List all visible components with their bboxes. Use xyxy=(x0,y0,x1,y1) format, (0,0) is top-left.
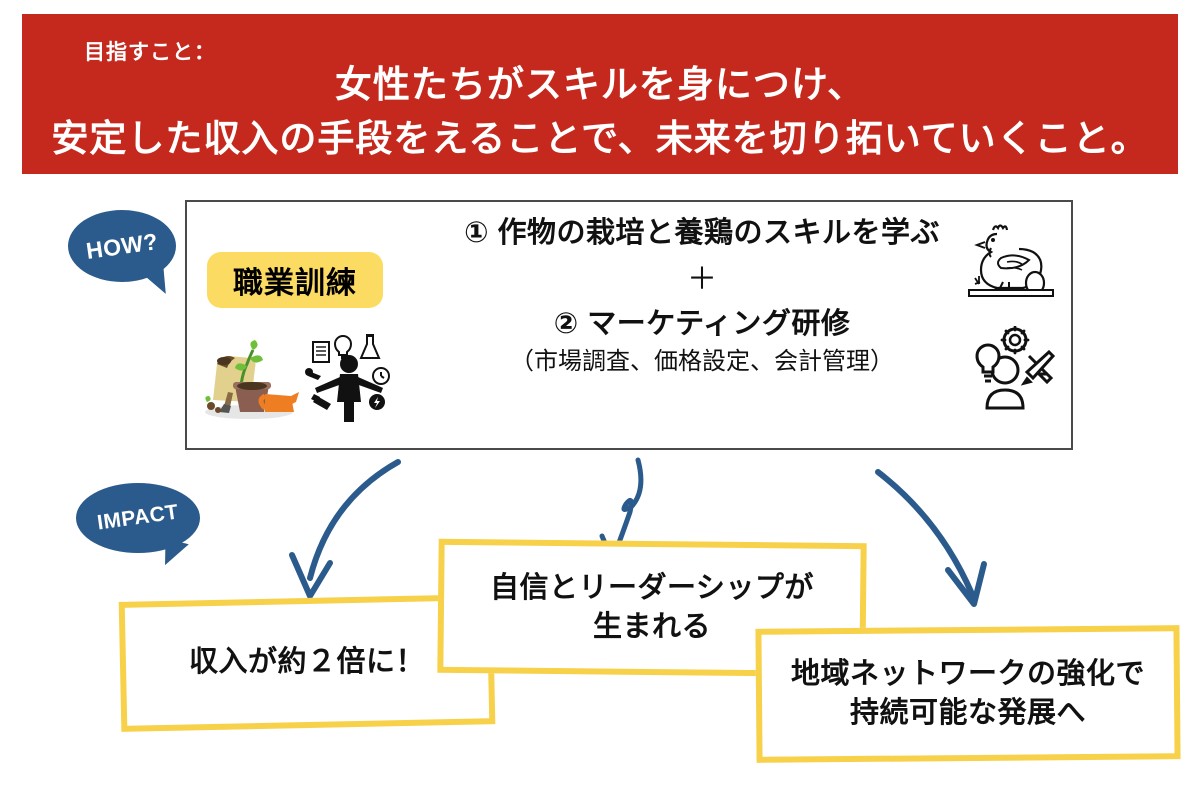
impact-box-1-text: 収入が約２倍に！ xyxy=(189,643,425,682)
how-speech-bubble: HOW? xyxy=(68,210,176,282)
impact-box-network: 地域ネットワークの強化で 持続可能な発展へ xyxy=(755,625,1180,763)
vocational-training-box: 職業訓練 xyxy=(185,200,1073,450)
how-bubble-label: HOW? xyxy=(84,228,159,265)
curved-arrow-right xyxy=(878,472,972,594)
impact-box-2-line-1: 自信とリーダーシップが xyxy=(490,569,814,608)
impact-box-3-text: 地域ネットワークの強化で 持続可能な発展へ xyxy=(791,655,1145,733)
impact-box-1-line-1: 収入が約２倍に！ xyxy=(189,643,425,682)
impact-box-3-line-1: 地域ネットワークの強化で xyxy=(791,655,1145,694)
header-title-line-2: 安定した収入の手段をえることで、未来を切り拓いていくこと。 xyxy=(22,112,1178,166)
impact-box-3-line-2: 持続可能な発展へ xyxy=(791,694,1145,733)
chicken-egg-icon xyxy=(963,214,1059,298)
how-item-2-subtitle: （市場調査、価格設定、会計管理） xyxy=(427,346,977,377)
curved-arrow-left xyxy=(310,462,398,578)
how-text-block: ① 作物の栽培と養鶏のスキルを学ぶ ＋ ② マーケティング研修 （市場調査、価格… xyxy=(427,216,977,377)
impact-bubble-tail xyxy=(159,538,189,569)
skills-person-icon xyxy=(305,332,393,424)
header-title-line-1: 女性たちがスキルを身につけ、 xyxy=(22,58,1178,112)
header-title: 女性たちがスキルを身につけ、 安定した収入の手段をえることで、未来を切り拓いてい… xyxy=(22,58,1178,165)
how-plus-symbol: ＋ xyxy=(427,257,977,302)
header-banner: 目指すこと： 女性たちがスキルを身につけ、 安定した収入の手段をえることで、未来… xyxy=(22,14,1178,174)
training-tag-label: 職業訓練 xyxy=(233,258,357,302)
slide-canvas: 目指すこと： 女性たちがスキルを身につけ、 安定した収入の手段をえることで、未来… xyxy=(0,0,1200,800)
how-item-1: ① 作物の栽培と養鶏のスキルを学ぶ xyxy=(427,216,977,251)
impact-bubble-label: IMPACT xyxy=(96,500,180,535)
training-tag: 職業訓練 xyxy=(207,252,383,308)
gardening-icon xyxy=(195,334,300,422)
how-item-2: ② マーケティング研修 xyxy=(427,306,977,342)
impact-speech-bubble: IMPACT xyxy=(76,483,200,553)
how-bubble-tail xyxy=(143,267,172,299)
